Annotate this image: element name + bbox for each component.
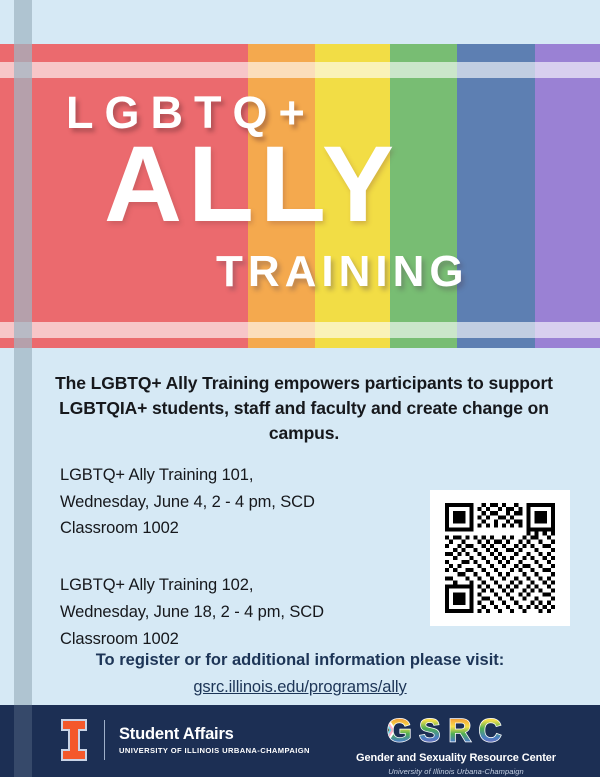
footer-accent-stripe	[14, 705, 32, 777]
svg-text:S: S	[419, 713, 440, 747]
session-location: Classroom 1002	[60, 515, 420, 542]
logo-divider	[104, 720, 105, 760]
session-datetime: Wednesday, June 18, 2 - 4 pm, SCD	[60, 599, 420, 626]
vertical-accent-stripe	[14, 0, 32, 777]
session-list: LGBTQ+ Ally Training 101, Wednesday, Jun…	[60, 462, 420, 652]
session-datetime: Wednesday, June 4, 2 - 4 pm, SCD	[60, 489, 420, 516]
gsrc-name: Gender and Sexuality Resource Center	[332, 752, 580, 764]
hero-title-ally-text: ALLY	[104, 123, 400, 244]
gsrc-wordmark-icon: G G S R C	[385, 713, 527, 747]
student-affairs-lockup: Student Affairs UNIVERSITY OF ILLINOIS U…	[60, 719, 310, 761]
svg-text:R: R	[448, 713, 471, 747]
qr-code-card[interactable]	[430, 490, 570, 626]
registration-link[interactable]: gsrc.illinois.edu/programs/ally	[40, 675, 560, 700]
call-to-action: To register or for additional informatio…	[40, 648, 560, 700]
session-item: LGBTQ+ Ally Training 102, Wednesday, Jun…	[60, 572, 420, 652]
gsrc-lockup: G G S R C Gender and Sexual	[332, 713, 580, 776]
session-title: LGBTQ+ Ally Training 101,	[60, 462, 420, 489]
illinois-block-i-logo	[60, 719, 88, 761]
hero-title-line-2: ALLY	[104, 130, 400, 238]
session-title: LGBTQ+ Ally Training 102,	[60, 572, 420, 599]
hero-title-line-3: TRAINING	[216, 250, 469, 294]
cta-text: To register or for additional informatio…	[96, 651, 505, 669]
intro-paragraph: The LGBTQ+ Ally Training empowers partic…	[48, 371, 560, 446]
footer-bar: Student Affairs UNIVERSITY OF ILLINOIS U…	[0, 705, 600, 777]
student-affairs-title: Student Affairs	[119, 725, 310, 743]
svg-text:C: C	[479, 713, 502, 747]
gsrc-subtitle: University of Illinois Urbana-Champaign	[332, 767, 580, 776]
session-item: LGBTQ+ Ally Training 101, Wednesday, Jun…	[60, 462, 420, 542]
student-affairs-text: Student Affairs UNIVERSITY OF ILLINOIS U…	[119, 725, 310, 755]
hero-title-group: LGBTQ+ ALLY TRAINING	[0, 44, 600, 348]
poster-canvas: ALLY ALLY ALLY ALLY ALLY ALLY LGBTQ+ ALL…	[0, 0, 600, 777]
qr-code-icon[interactable]	[441, 499, 559, 617]
student-affairs-subtitle: UNIVERSITY OF ILLINOIS URBANA-CHAMPAIGN	[119, 746, 310, 755]
